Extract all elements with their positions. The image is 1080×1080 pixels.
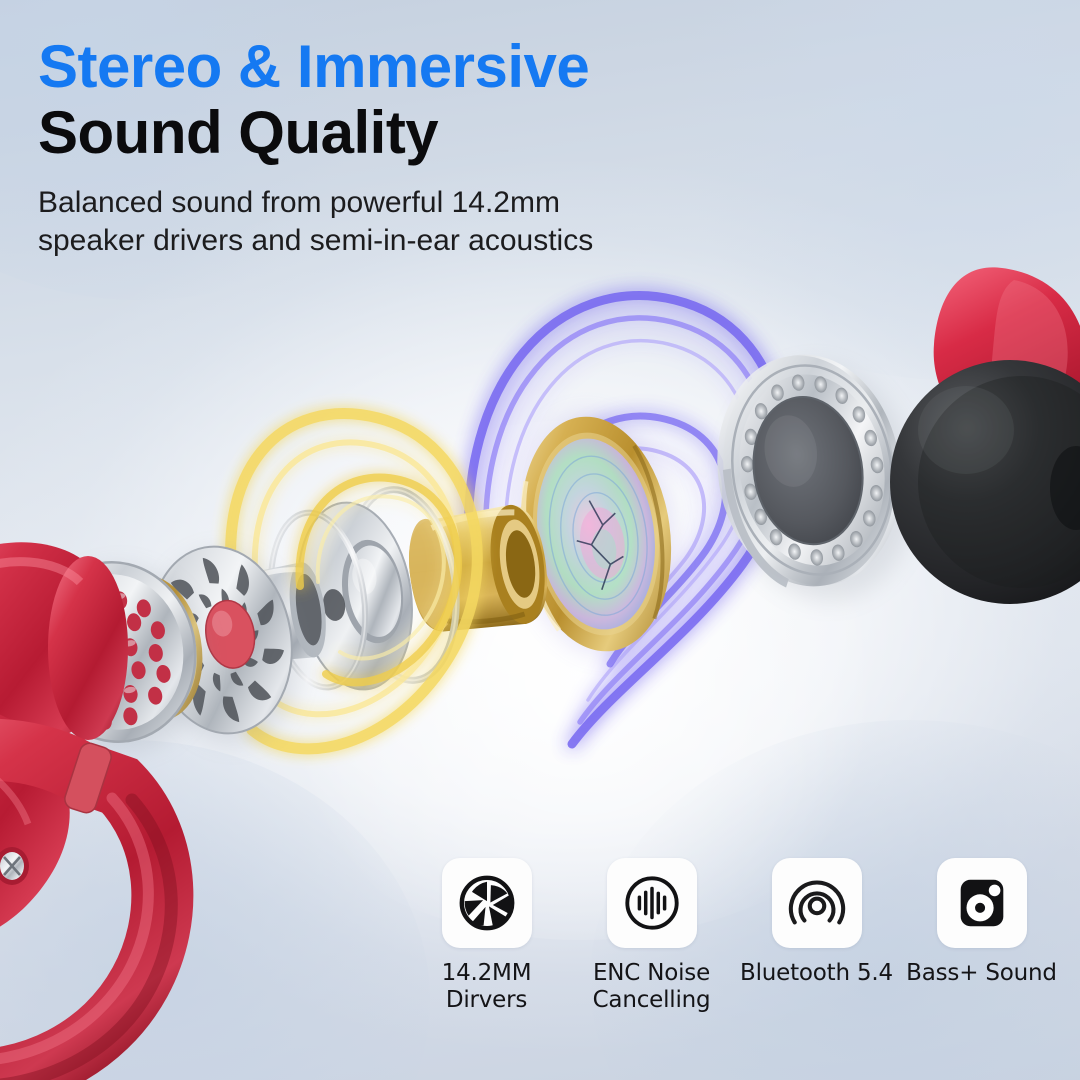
subtitle-line-2: speaker drivers and semi-in-ear acoustic… <box>38 222 798 260</box>
page-title-line2: Sound Quality <box>38 101 938 166</box>
voice-coil-ring-inner <box>260 506 376 693</box>
feature-icon-tile-bass <box>937 858 1027 948</box>
magnet-puck <box>286 495 423 697</box>
page-title-line1: Stereo & Immersive <box>38 36 938 97</box>
sound-wave-circle-icon <box>621 872 683 934</box>
feature-item-enc: ENC Noise Cancelling <box>569 858 734 1014</box>
feature-label-drivers: 14.2MM Dirvers <box>404 960 569 1014</box>
feature-item-bluetooth: Bluetooth 5.4 <box>734 858 899 987</box>
background-blob-bottom-left <box>0 740 430 1080</box>
feature-icon-tile-drivers <box>442 858 532 948</box>
page-subtitle: Balanced sound from powerful 14.2mm spea… <box>38 184 798 260</box>
feature-icon-tile-bluetooth <box>772 858 862 948</box>
aperture-icon <box>456 872 518 934</box>
iridescent-diaphragm <box>502 402 690 665</box>
headline-block: Stereo & Immersive Sound Quality Balance… <box>38 36 938 260</box>
red-ear-hook <box>0 542 171 1080</box>
feature-label-bluetooth: Bluetooth 5.4 <box>740 960 893 987</box>
feature-item-bass: Bass+ Sound <box>899 858 1064 987</box>
feature-strip: 14.2MM Dirvers ENC Noise Cancel <box>404 858 1064 1014</box>
black-ear-tip <box>890 360 1080 604</box>
feature-icon-tile-enc <box>607 858 697 948</box>
blue-sound-swirl <box>469 296 782 744</box>
voice-coil-ring-outer <box>338 483 468 688</box>
feature-label-enc: ENC Noise Cancelling <box>593 960 711 1014</box>
gold-accent-ring <box>99 576 205 721</box>
feature-label-bass: Bass+ Sound <box>906 960 1057 987</box>
feature-item-drivers: 14.2MM Dirvers <box>404 858 569 1014</box>
gold-magnet-cylinder <box>402 501 553 639</box>
red-earbud-body <box>934 267 1080 457</box>
hook-screw <box>0 847 29 885</box>
mesh-holes <box>44 583 180 737</box>
driver-frame-block <box>220 560 331 669</box>
silver-speaker-grille <box>701 340 931 615</box>
yellow-sound-swirl <box>231 414 478 749</box>
broadcast-rings-icon <box>786 872 848 934</box>
feature-label-enc-line2: Cancelling <box>593 987 711 1013</box>
radial-slotted-silver-disc <box>136 534 314 754</box>
subtitle-line-1: Balanced sound from powerful 14.2mm <box>38 184 798 222</box>
disc-slots <box>145 547 296 734</box>
perforated-silver-mesh-cap <box>21 548 219 764</box>
speaker-box-icon <box>951 872 1013 934</box>
grille-perforations <box>728 363 898 575</box>
product-feature-banner: Stereo & Immersive Sound Quality Balance… <box>0 0 1080 1080</box>
feature-label-enc-line1: ENC Noise <box>593 960 710 986</box>
